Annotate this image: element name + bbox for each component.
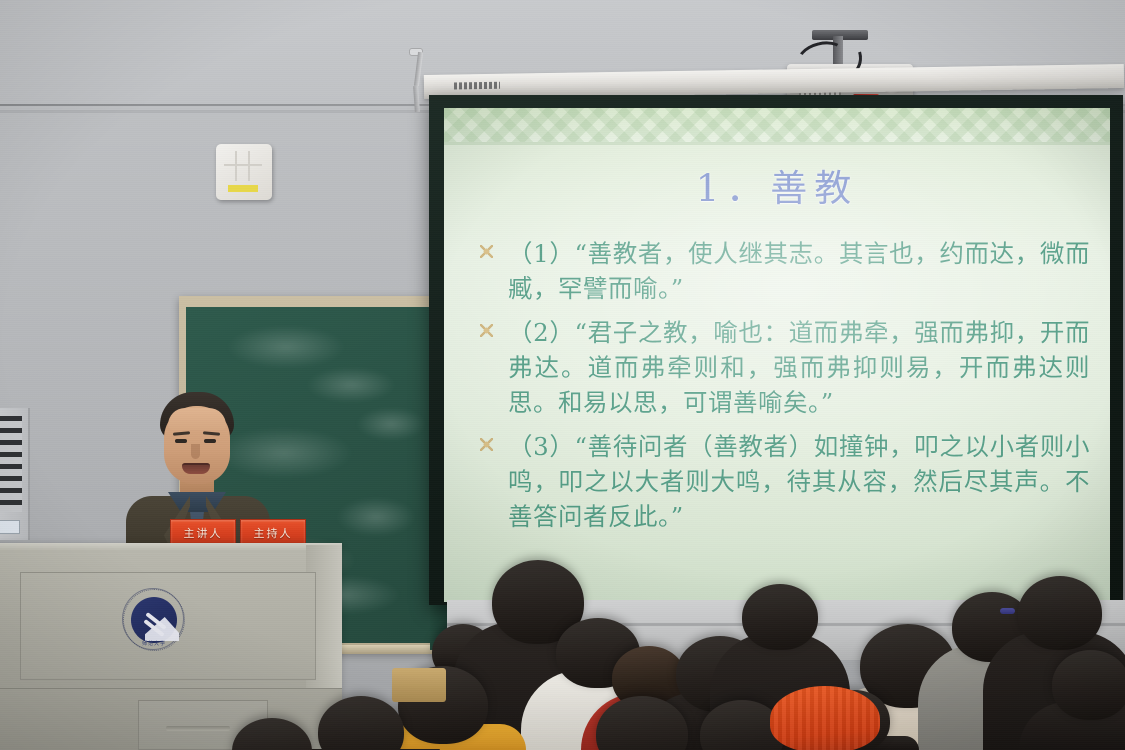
- audience-head: [318, 696, 404, 750]
- chalk-smudge: [226, 325, 346, 369]
- chalk-smudge: [336, 497, 416, 537]
- screen-brand-label: [454, 82, 500, 90]
- presenter-eye: [204, 439, 216, 443]
- diamond-bullet-icon: [480, 438, 493, 451]
- audience-head: [742, 584, 818, 650]
- audience-head: [232, 718, 312, 750]
- air-conditioner: [0, 408, 30, 540]
- hair-clip: [1000, 608, 1015, 614]
- chair-back: [392, 668, 446, 702]
- slide-bullet-list: （1）“善教者，使人继其志。其言也，约而达，微而臧，罕譬而喻。”（2）“君子之教…: [474, 236, 1090, 543]
- chalk-smudge: [306, 367, 396, 403]
- diamond-bullet-icon: [480, 324, 493, 337]
- audience-head: [1018, 576, 1102, 650]
- slide-title: 1．善教: [444, 158, 1110, 212]
- presenter-mouth: [182, 463, 210, 474]
- orange-knit-hat: [770, 686, 880, 750]
- projection-screen: 1．善教 （1）“善教者，使人继其志。其言也，约而达，微而臧，罕譬而喻。”（2）…: [444, 108, 1110, 602]
- chalk-smudge: [356, 407, 426, 441]
- audience: [0, 540, 1125, 750]
- diamond-bullet-icon: [480, 245, 493, 258]
- slide-content: 1．善教 （1）“善教者，使人继其志。其言也，约而达，微而臧，罕譬而喻。”（2）…: [444, 108, 1110, 602]
- control-panel-yellow-tag: [228, 185, 258, 192]
- presenter-eye: [175, 439, 187, 443]
- lecture-hall-photo: 1．善教 （1）“善教者，使人继其志。其言也，约而达，微而臧，罕譬而喻。”（2）…: [0, 0, 1125, 750]
- slide-bullet-text: （3）“善待问者（善教者）如撞钟，叩之以小者则小鸣，叩之以大者则大鸣，待其从容，…: [508, 429, 1090, 534]
- presenter-nose: [191, 444, 200, 459]
- slide-bullet-text: （2）“君子之教，喻也：道而弗牵，强而弗抑，开而弗达。道而弗牵则和，强而弗抑则易…: [508, 315, 1090, 420]
- ac-louvers-icon: [0, 416, 22, 512]
- wall-control-panel[interactable]: [216, 144, 272, 200]
- control-panel-grid-icon: [224, 151, 262, 181]
- audience-head: [1052, 650, 1125, 720]
- slide-bullet: （3）“善待问者（善教者）如撞钟，叩之以小者则小鸣，叩之以大者则大鸣，待其从容，…: [474, 429, 1090, 534]
- ac-label: [0, 520, 20, 534]
- slide-bullet-text: （1）“善教者，使人继其志。其言也，约而达，微而臧，罕譬而喻。”: [508, 236, 1090, 306]
- slide-bullet: （1）“善教者，使人继其志。其言也，约而达，微而臧，罕譬而喻。”: [474, 236, 1090, 306]
- slide-bullet: （2）“君子之教，喻也：道而弗牵，强而弗抑，开而弗达。道而弗牵则和，强而弗抑则易…: [474, 315, 1090, 420]
- presenter-forehead: [168, 408, 226, 430]
